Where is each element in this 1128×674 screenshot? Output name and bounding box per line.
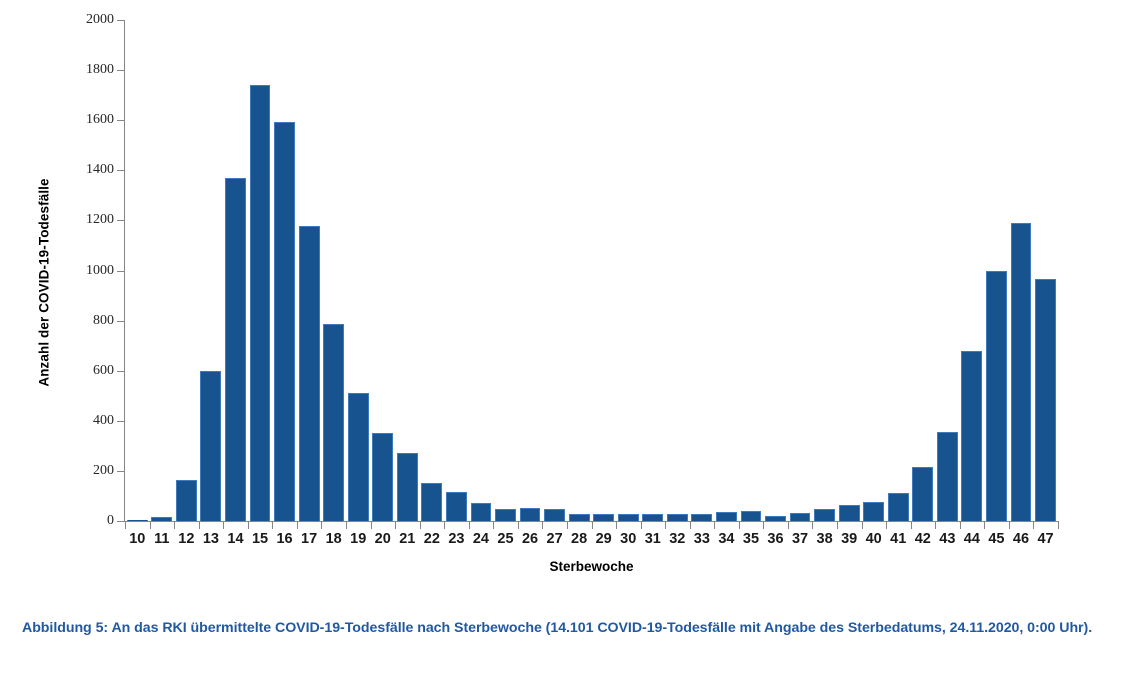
x-axis-tick-mark — [1033, 522, 1034, 529]
bar-slot — [788, 20, 813, 521]
bar-slot — [886, 20, 911, 521]
x-axis-tick-mark — [199, 522, 200, 529]
x-axis-tick-mark — [444, 522, 445, 529]
y-axis-tick-mark — [117, 471, 124, 472]
x-axis-tick-mark — [469, 522, 470, 529]
y-axis-tick-mark — [117, 371, 124, 372]
x-axis-tick-mark — [1009, 522, 1010, 529]
x-axis-tick-mark — [346, 522, 347, 529]
bar-slot — [763, 20, 788, 521]
x-axis-tick-mark — [641, 522, 642, 529]
x-axis-tick-mark — [223, 522, 224, 529]
x-axis-tick-label: 24 — [469, 531, 494, 553]
bar-slot — [174, 20, 199, 521]
y-axis-tick-label: 1000 — [62, 263, 114, 279]
x-axis-tick-mark — [174, 522, 175, 529]
bar — [961, 351, 982, 521]
bar-slot — [248, 20, 273, 521]
x-axis-tick-label: 38 — [812, 531, 837, 553]
bar — [421, 483, 442, 521]
y-axis-tick-mark — [117, 271, 124, 272]
bar — [274, 122, 295, 521]
x-axis-tick-mark — [984, 522, 985, 529]
x-axis-tick-label: 12 — [174, 531, 199, 553]
plot-area — [125, 20, 1058, 521]
x-axis-tick-label: 39 — [837, 531, 862, 553]
bar-slot — [837, 20, 862, 521]
bar-slot — [297, 20, 322, 521]
bar-slot — [223, 20, 248, 521]
x-axis-tick-label: 33 — [690, 531, 715, 553]
x-axis-tick-mark — [862, 522, 863, 529]
y-axis-tick-label: 600 — [62, 363, 114, 379]
bar — [1035, 279, 1056, 521]
y-axis-tick-label: 0 — [62, 513, 114, 529]
x-axis-tick-mark — [1058, 522, 1059, 529]
bar-slot — [567, 20, 592, 521]
bar — [986, 271, 1007, 522]
x-axis-tick-mark — [272, 522, 273, 529]
y-axis-tick-label: 1600 — [62, 112, 114, 128]
bar — [544, 509, 565, 521]
bar-slot — [518, 20, 543, 521]
bar — [200, 371, 221, 521]
x-axis-tick-mark — [812, 522, 813, 529]
x-axis-tick-label: 36 — [763, 531, 788, 553]
bar — [691, 514, 712, 522]
x-axis-tick-mark — [518, 522, 519, 529]
x-axis-tick-mark — [395, 522, 396, 529]
bar — [520, 508, 541, 521]
x-axis-tick-label: 34 — [714, 531, 739, 553]
bar — [642, 514, 663, 522]
bar — [372, 433, 393, 521]
x-axis-tick-label: 27 — [542, 531, 567, 553]
x-axis-tick-label: 20 — [370, 531, 395, 553]
bar — [397, 453, 418, 521]
bar — [1011, 223, 1032, 521]
x-axis-tick-mark — [493, 522, 494, 529]
x-axis-tick-mark — [763, 522, 764, 529]
x-axis-tick-label: 41 — [886, 531, 911, 553]
y-axis-tick-mark — [117, 120, 124, 121]
x-axis-tick-mark — [371, 522, 372, 529]
x-axis-tick-label: 30 — [616, 531, 641, 553]
bar-series — [125, 20, 1058, 521]
bar-slot — [739, 20, 764, 521]
x-axis-tick-label: 25 — [493, 531, 518, 553]
x-axis-tick-mark — [542, 522, 543, 529]
x-axis-tick-mark — [886, 522, 887, 529]
bar-chart: Anzahl der COVID-19-Todesfälle 020040060… — [0, 0, 1128, 600]
bar-slot — [321, 20, 346, 521]
x-axis-tick-mark — [125, 522, 126, 529]
y-axis-tick-label: 1400 — [62, 162, 114, 178]
bar-slot — [493, 20, 518, 521]
bar — [863, 502, 884, 521]
y-axis-tick-mark — [117, 220, 124, 221]
y-axis-tick-labels: 0200400600800100012001400160018002000 — [62, 0, 114, 540]
x-axis-tick-mark — [420, 522, 421, 529]
y-axis-tick-mark — [117, 20, 124, 21]
bar — [348, 393, 369, 521]
bar-slot — [444, 20, 469, 521]
x-axis-tick-mark — [567, 522, 568, 529]
bar — [471, 503, 492, 521]
bar — [495, 509, 516, 521]
bar-slot — [616, 20, 641, 521]
x-axis-tick-label: 46 — [1009, 531, 1034, 553]
bar-slot — [591, 20, 616, 521]
x-axis-tick-label: 42 — [911, 531, 936, 553]
x-axis-title: Sterbewoche — [125, 559, 1058, 574]
x-axis-tick-label: 13 — [199, 531, 224, 553]
y-axis-tick-label: 400 — [62, 413, 114, 429]
bar-slot — [542, 20, 567, 521]
figure-container: Anzahl der COVID-19-Todesfälle 020040060… — [0, 0, 1128, 674]
x-axis-tick-label: 23 — [444, 531, 469, 553]
bar-slot — [690, 20, 715, 521]
x-axis-tick-label: 28 — [567, 531, 592, 553]
y-axis-tick-mark — [117, 321, 124, 322]
bar-slot — [1009, 20, 1034, 521]
figure-caption: Abbildung 5: An das RKI übermittelte COV… — [22, 617, 1112, 639]
bar-slot — [911, 20, 936, 521]
bar-slot — [1033, 20, 1058, 521]
x-axis-tick-mark — [321, 522, 322, 529]
x-axis-tick-label: 10 — [125, 531, 150, 553]
x-axis-tick-mark — [248, 522, 249, 529]
x-axis-tick-label: 11 — [150, 531, 175, 553]
x-axis-tick-label: 32 — [665, 531, 690, 553]
y-axis-tick-label: 200 — [62, 463, 114, 479]
y-axis-tick-mark — [117, 70, 124, 71]
y-axis-tick-label: 2000 — [62, 12, 114, 28]
y-axis-tick-mark — [117, 421, 124, 422]
bar — [299, 226, 320, 521]
x-axis-tick-mark — [911, 522, 912, 529]
bar-slot — [420, 20, 445, 521]
x-axis-tick-mark — [297, 522, 298, 529]
bar-slot — [346, 20, 371, 521]
bar-slot — [665, 20, 690, 521]
y-axis-tick-label: 800 — [62, 313, 114, 329]
bar — [888, 493, 909, 521]
bar-slot — [150, 20, 175, 521]
bar-slot — [935, 20, 960, 521]
bar — [667, 514, 688, 522]
y-axis-tick-mark — [117, 521, 124, 522]
bar-slot — [960, 20, 985, 521]
x-axis-tick-label: 31 — [640, 531, 665, 553]
bar-slot — [469, 20, 494, 521]
x-axis-tick-labels: 1011121314151617181920212223242526272829… — [125, 531, 1058, 553]
x-axis-tick-mark — [714, 522, 715, 529]
bar-slot — [640, 20, 665, 521]
x-axis-tick-label: 37 — [788, 531, 813, 553]
x-axis-tick-mark — [739, 522, 740, 529]
x-axis-tick-label: 44 — [960, 531, 985, 553]
x-axis-tick-label: 15 — [248, 531, 273, 553]
x-axis-tick-label: 18 — [321, 531, 346, 553]
x-axis-tick-label: 21 — [395, 531, 420, 553]
y-axis-title: Anzahl der COVID-19-Todesfälle — [37, 143, 52, 423]
x-axis-tick-mark — [935, 522, 936, 529]
x-axis-tick-label: 43 — [935, 531, 960, 553]
x-axis-tick-label: 29 — [591, 531, 616, 553]
bar-slot — [272, 20, 297, 521]
x-axis-tick-label: 14 — [223, 531, 248, 553]
bar — [716, 512, 737, 521]
x-axis-tick-mark — [150, 522, 151, 529]
x-axis-tick-mark — [665, 522, 666, 529]
x-axis-tick-mark — [960, 522, 961, 529]
x-axis-tick-mark — [690, 522, 691, 529]
x-axis-tick-label: 47 — [1033, 531, 1058, 553]
y-axis-tick-label: 1800 — [62, 62, 114, 78]
x-axis-tick-marks — [125, 522, 1058, 529]
bar — [937, 432, 958, 521]
bar — [225, 178, 246, 521]
x-axis-tick-label: 19 — [346, 531, 371, 553]
bar-slot — [370, 20, 395, 521]
bar — [250, 85, 271, 521]
bar-slot — [199, 20, 224, 521]
x-axis-tick-label: 40 — [861, 531, 886, 553]
bar — [618, 514, 639, 521]
bar-slot — [125, 20, 150, 521]
x-axis-tick-label: 45 — [984, 531, 1009, 553]
x-axis-tick-label: 22 — [420, 531, 445, 553]
bar — [790, 513, 811, 521]
y-axis-tick-label: 1200 — [62, 212, 114, 228]
bar-slot — [861, 20, 886, 521]
bar — [839, 505, 860, 521]
bar — [323, 324, 344, 521]
bar-slot — [395, 20, 420, 521]
x-axis-tick-label: 35 — [739, 531, 764, 553]
bar — [814, 509, 835, 521]
bar — [912, 467, 933, 521]
x-axis-tick-mark — [616, 522, 617, 529]
x-axis-tick-mark — [788, 522, 789, 529]
x-axis-tick-label: 16 — [272, 531, 297, 553]
bar — [569, 514, 590, 521]
bar — [593, 514, 614, 521]
x-axis-tick-mark — [592, 522, 593, 529]
bar-slot — [812, 20, 837, 521]
x-axis-tick-label: 26 — [518, 531, 543, 553]
bar — [176, 480, 197, 521]
x-axis-tick-mark — [837, 522, 838, 529]
bar — [446, 492, 467, 521]
bar — [741, 511, 762, 521]
bar-slot — [714, 20, 739, 521]
bar-slot — [984, 20, 1009, 521]
x-axis-tick-label: 17 — [297, 531, 322, 553]
y-axis-tick-mark — [117, 170, 124, 171]
